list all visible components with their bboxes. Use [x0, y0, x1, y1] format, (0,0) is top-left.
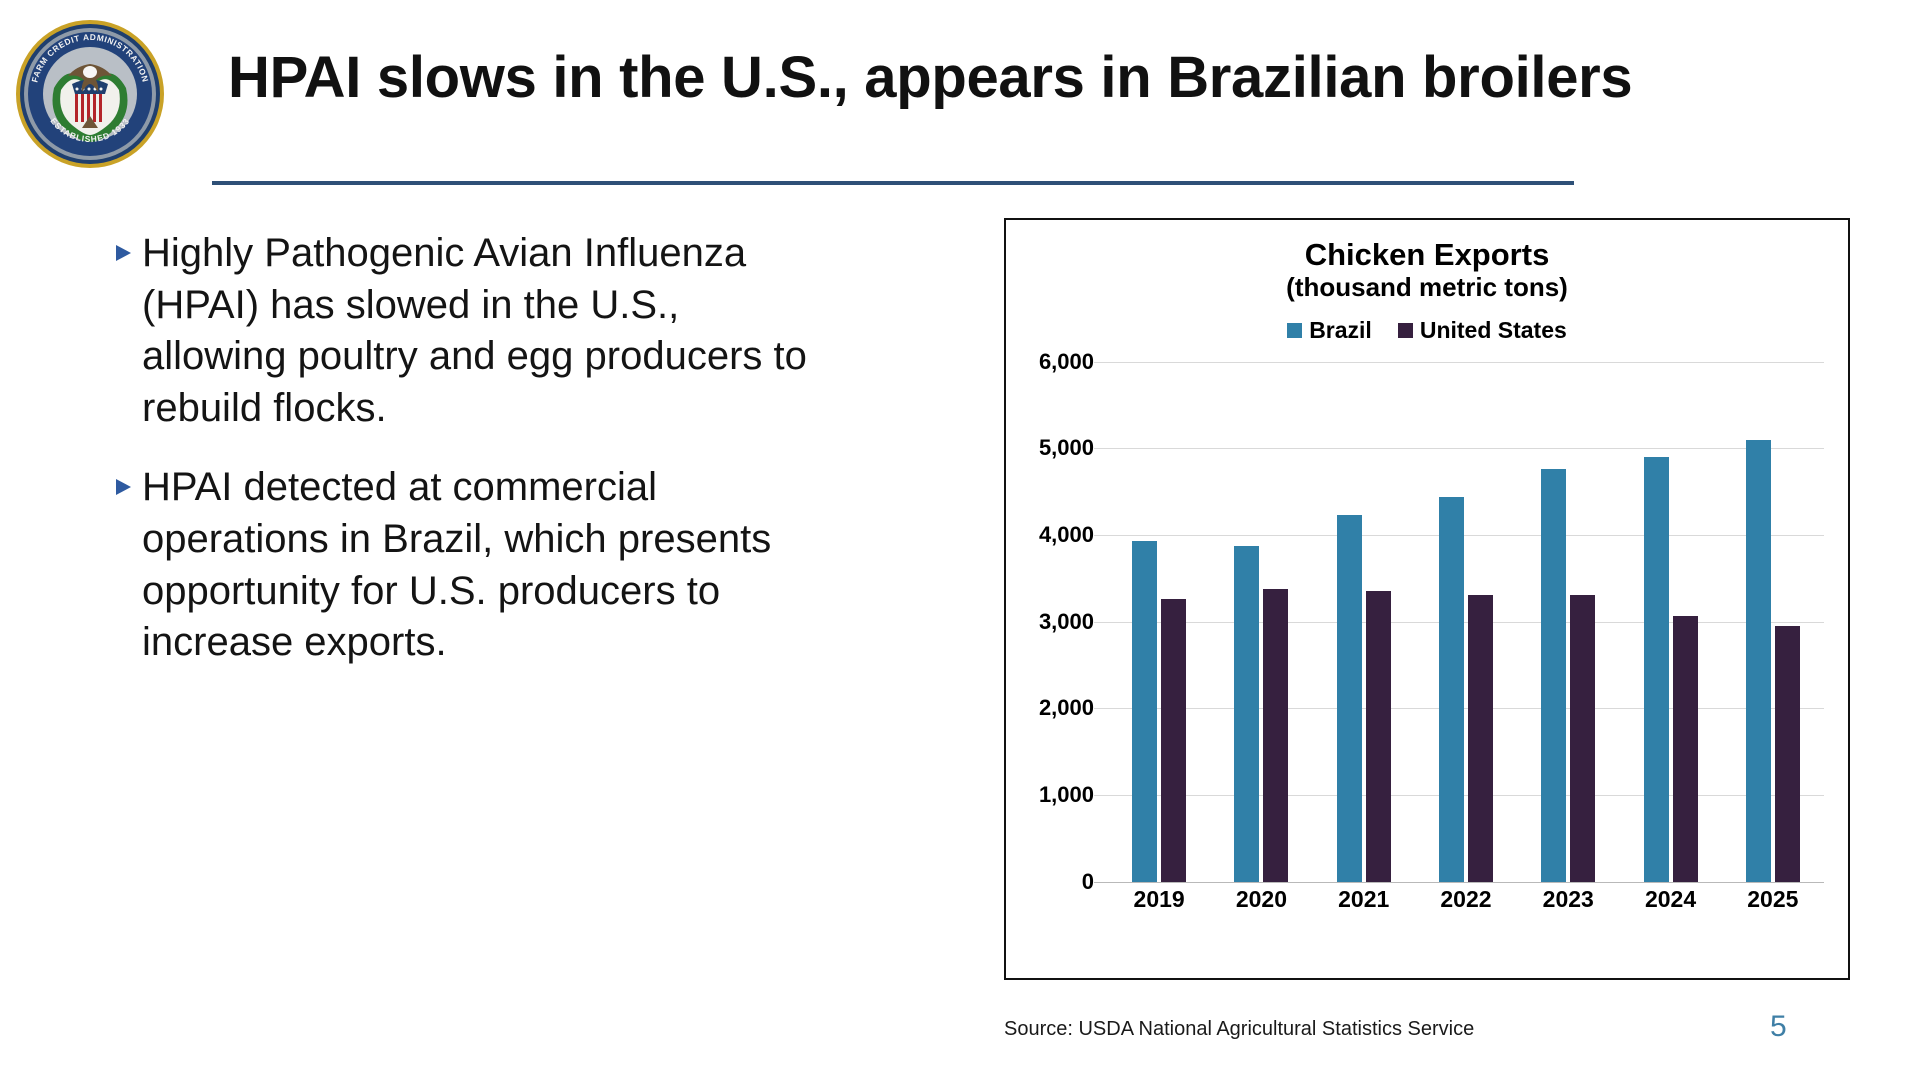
bar-brazil-2019[interactable]	[1132, 541, 1157, 882]
x-axis-tick-label: 2019	[1108, 886, 1210, 913]
bullet-list: Highly Pathogenic Avian Influenza (HPAI)…	[112, 228, 812, 697]
legend-item-brazil[interactable]: Brazil	[1287, 317, 1372, 344]
x-axis-tick-label: 2025	[1722, 886, 1824, 913]
legend-swatch-united-states	[1398, 323, 1413, 338]
y-axis-tick-label: 3,000	[1039, 609, 1094, 635]
chicken-exports-chart: Chicken Exports (thousand metric tons) B…	[1004, 218, 1850, 980]
legend-label-brazil: Brazil	[1309, 317, 1372, 344]
plot-area	[1108, 362, 1824, 882]
bar-group-2020	[1210, 362, 1312, 882]
bar-group-2024	[1619, 362, 1721, 882]
x-axis-tick-label: 2023	[1517, 886, 1619, 913]
bar-group-2023	[1517, 362, 1619, 882]
bars-layer	[1108, 362, 1824, 882]
list-item: Highly Pathogenic Avian Influenza (HPAI)…	[112, 228, 812, 434]
farm-credit-administration-seal-icon: FARM CREDIT ADMINISTRATION ESTABLISHED 1…	[14, 18, 166, 170]
chart-plot: 6,0005,0004,0003,0002,0001,0000 20192020…	[1006, 362, 1824, 922]
page-title: HPAI slows in the U.S., appears in Brazi…	[228, 48, 1828, 109]
chart-legend: Brazil United States	[1006, 317, 1848, 344]
bar-brazil-2024[interactable]	[1644, 457, 1669, 882]
y-axis-tick-label: 4,000	[1039, 522, 1094, 548]
legend-item-united-states[interactable]: United States	[1398, 317, 1567, 344]
bar-united-states-2023[interactable]	[1570, 595, 1595, 882]
source-note: Source: USDA National Agricultural Stati…	[1004, 1018, 1474, 1041]
bar-united-states-2025[interactable]	[1775, 626, 1800, 882]
x-axis-tick-label: 2024	[1619, 886, 1721, 913]
gridline	[1094, 882, 1824, 883]
y-axis-tick-label: 6,000	[1039, 349, 1094, 375]
list-item: HPAI detected at commercial operations i…	[112, 462, 812, 668]
bar-brazil-2022[interactable]	[1439, 497, 1464, 882]
bar-united-states-2020[interactable]	[1263, 589, 1288, 882]
bar-group-2019	[1108, 362, 1210, 882]
bar-brazil-2025[interactable]	[1746, 440, 1771, 882]
bullet-text: HPAI detected at commercial operations i…	[142, 462, 812, 668]
y-axis-tick-label: 2,000	[1039, 695, 1094, 721]
chart-title: Chicken Exports	[1006, 238, 1848, 273]
bar-united-states-2022[interactable]	[1468, 595, 1493, 882]
title-divider	[212, 181, 1574, 185]
page-number: 5	[1770, 1010, 1787, 1044]
x-axis-tick-label: 2020	[1210, 886, 1312, 913]
bullet-text: Highly Pathogenic Avian Influenza (HPAI)…	[142, 228, 812, 434]
y-axis-tick-label: 0	[1082, 869, 1094, 895]
bar-brazil-2023[interactable]	[1541, 469, 1566, 882]
legend-label-united-states: United States	[1420, 317, 1567, 344]
bar-united-states-2019[interactable]	[1161, 599, 1186, 882]
bar-united-states-2024[interactable]	[1673, 616, 1698, 881]
triangle-right-bullet-icon	[112, 462, 142, 498]
y-axis-tick-label: 5,000	[1039, 435, 1094, 461]
bar-group-2022	[1415, 362, 1517, 882]
bar-brazil-2020[interactable]	[1234, 546, 1259, 881]
bar-united-states-2021[interactable]	[1366, 591, 1391, 881]
bar-group-2025	[1722, 362, 1824, 882]
slide-header: FARM CREDIT ADMINISTRATION ESTABLISHED 1…	[0, 0, 1920, 190]
bar-brazil-2021[interactable]	[1337, 515, 1362, 882]
x-axis-tick-label: 2022	[1415, 886, 1517, 913]
x-axis: 2019202020212022202320242025	[1108, 886, 1824, 913]
y-axis-tick-label: 1,000	[1039, 782, 1094, 808]
legend-swatch-brazil	[1287, 323, 1302, 338]
chart-subtitle: (thousand metric tons)	[1006, 273, 1848, 303]
x-axis-tick-label: 2021	[1313, 886, 1415, 913]
triangle-right-bullet-icon	[112, 228, 142, 264]
bar-group-2021	[1313, 362, 1415, 882]
y-axis: 6,0005,0004,0003,0002,0001,0000	[1006, 362, 1102, 882]
